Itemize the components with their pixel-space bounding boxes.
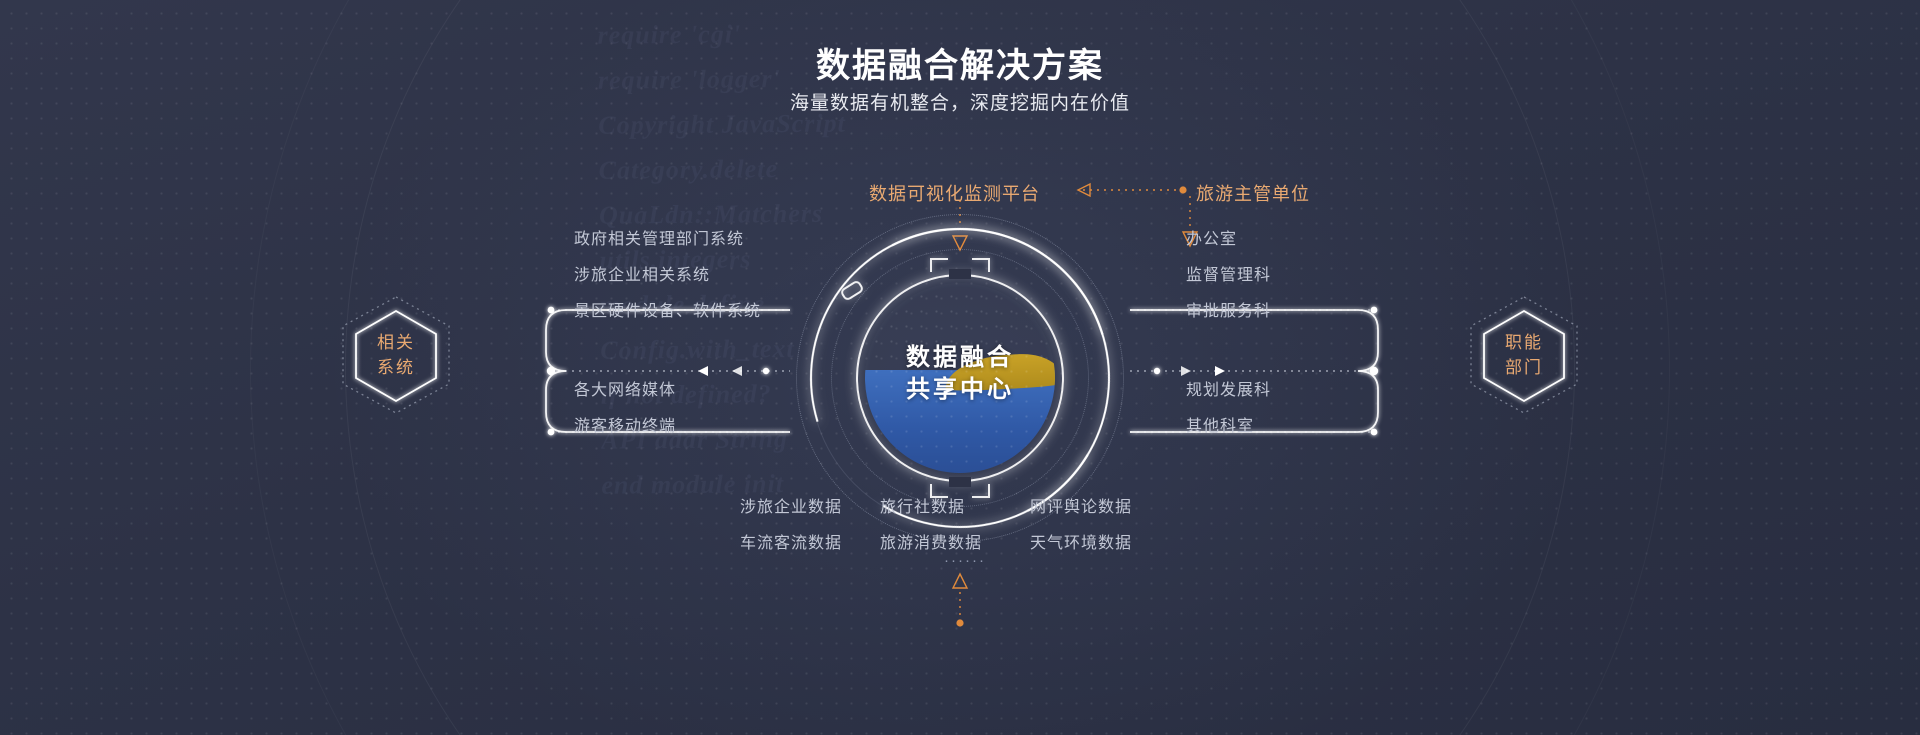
center-line-2: 共享中心	[855, 374, 1065, 406]
list-item: 网评舆论数据	[1030, 490, 1180, 526]
infographic-canvas: require 'cgi' require 'logger' Copyright…	[0, 0, 1920, 735]
list-item: 景区硬件设备、软件系统	[574, 294, 761, 330]
hexagon-functional-departments[interactable]: 职能 部门	[1465, 293, 1583, 417]
center-line-1: 数据融合	[855, 342, 1065, 374]
ring-gap-top	[949, 269, 971, 279]
right-bottom-item-list: 规划发展科 其他科室	[1186, 373, 1271, 445]
list-item: 旅行社数据	[880, 490, 1030, 526]
list-item: 监督管理科	[1186, 258, 1271, 294]
list-item: 其他科室	[1186, 409, 1271, 445]
hexagon-related-systems[interactable]: 相关 系统	[337, 293, 455, 417]
right-top-item-list: 办公室 监督管理科 审批服务科	[1186, 222, 1271, 330]
list-item: 涉旅企业数据	[740, 490, 880, 526]
node-visualization-platform[interactable]: 数据可视化监测平台	[869, 180, 1040, 206]
bottom-ellipsis: ······	[740, 552, 1190, 569]
page-title: 数据融合解决方案	[0, 38, 1920, 87]
hexagon-right-line1: 职能	[1505, 330, 1543, 355]
hexagon-left-line2: 系统	[377, 355, 415, 380]
list-item: 审批服务科	[1186, 294, 1271, 330]
left-bottom-item-list: 各大网络媒体 游客移动终端	[574, 373, 676, 445]
hexagon-left-line1: 相关	[377, 330, 415, 355]
list-item: 办公室	[1186, 222, 1271, 258]
list-item: 涉旅企业相关系统	[574, 258, 761, 294]
hexagon-right-line2: 部门	[1505, 355, 1543, 380]
list-item: 政府相关管理部门系统	[574, 222, 761, 258]
list-item: 规划发展科	[1186, 373, 1271, 409]
node-tourism-authority[interactable]: 旅游主管单位	[1196, 180, 1310, 206]
list-item: 游客移动终端	[574, 409, 676, 445]
hexagon-right-label: 职能 部门	[1465, 293, 1583, 417]
bracket-top-right-icon	[972, 258, 990, 272]
bracket-top-left-icon	[930, 258, 948, 272]
list-item: 各大网络媒体	[574, 373, 676, 409]
page-subtitle: 海量数据有机整合，深度挖掘内在价值	[0, 88, 1920, 115]
left-top-item-list: 政府相关管理部门系统 涉旅企业相关系统 景区硬件设备、软件系统	[574, 222, 761, 330]
ring-gap-bottom	[949, 477, 971, 487]
hexagon-left-label: 相关 系统	[337, 293, 455, 417]
center-hub-label: 数据融合 共享中心	[855, 342, 1065, 406]
